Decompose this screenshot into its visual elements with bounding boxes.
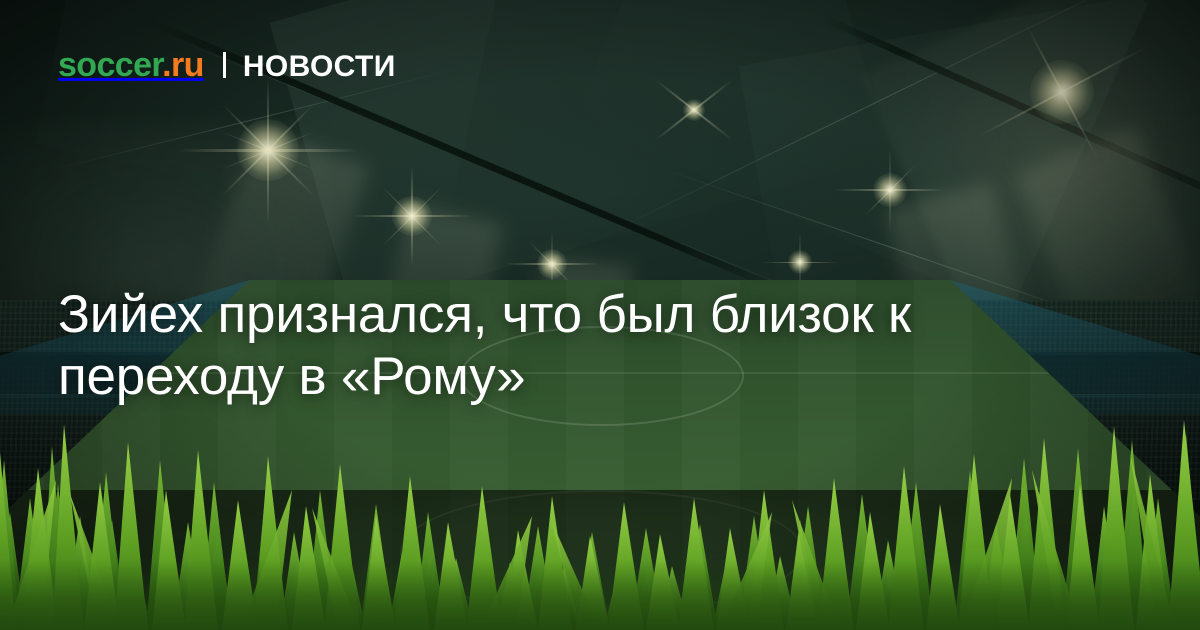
page-title: Зийех признался, что был близок к перехо… <box>58 284 1098 408</box>
logo-word: soccer <box>58 46 162 84</box>
site-header: soccer.ru НОВОСТИ <box>58 48 396 82</box>
social-share-card: soccer.ru НОВОСТИ Зийех признался, что б… <box>0 0 1200 630</box>
headline-line-2: переходу в «Рому» <box>58 346 1098 408</box>
header-divider <box>223 52 226 78</box>
logo-tld: .ru <box>162 46 204 84</box>
section-label: НОВОСТИ <box>243 52 396 82</box>
soccer-ru-logo[interactable]: soccer.ru <box>58 48 204 82</box>
headline-line-1: Зийех признался, что был близок к <box>58 284 1098 346</box>
